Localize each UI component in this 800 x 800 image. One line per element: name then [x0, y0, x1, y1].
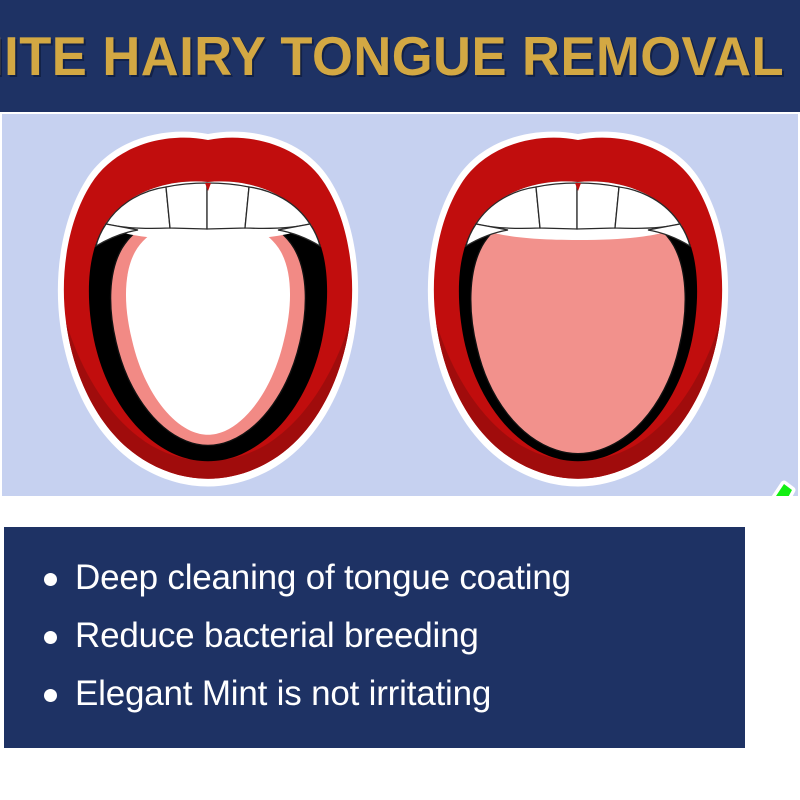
list-item: Deep cleaning of tongue coating — [4, 549, 745, 607]
bullet-icon — [44, 689, 57, 702]
after-mouth-illustration — [416, 128, 740, 488]
bullet-icon — [44, 631, 57, 644]
before-after-comparison — [2, 114, 798, 496]
benefits-panel: Deep cleaning of tongue coating Reduce b… — [4, 527, 745, 748]
benefit-label: Reduce bacterial breeding — [75, 616, 479, 656]
bullet-icon — [44, 573, 57, 586]
product-infographic: WHITE HAIRY TONGUE REMOVAL KIT — [0, 0, 800, 800]
page-title: WHITE HAIRY TONGUE REMOVAL KIT — [18, 0, 782, 112]
check-icon — [690, 474, 796, 496]
before-mouth-illustration — [46, 128, 370, 488]
benefit-label: Elegant Mint is not irritating — [75, 674, 491, 714]
list-item: Reduce bacterial breeding — [4, 607, 745, 665]
benefit-label: Deep cleaning of tongue coating — [75, 558, 571, 598]
list-item: Elegant Mint is not irritating — [4, 665, 745, 723]
benefits-list: Deep cleaning of tongue coating Reduce b… — [4, 527, 745, 748]
